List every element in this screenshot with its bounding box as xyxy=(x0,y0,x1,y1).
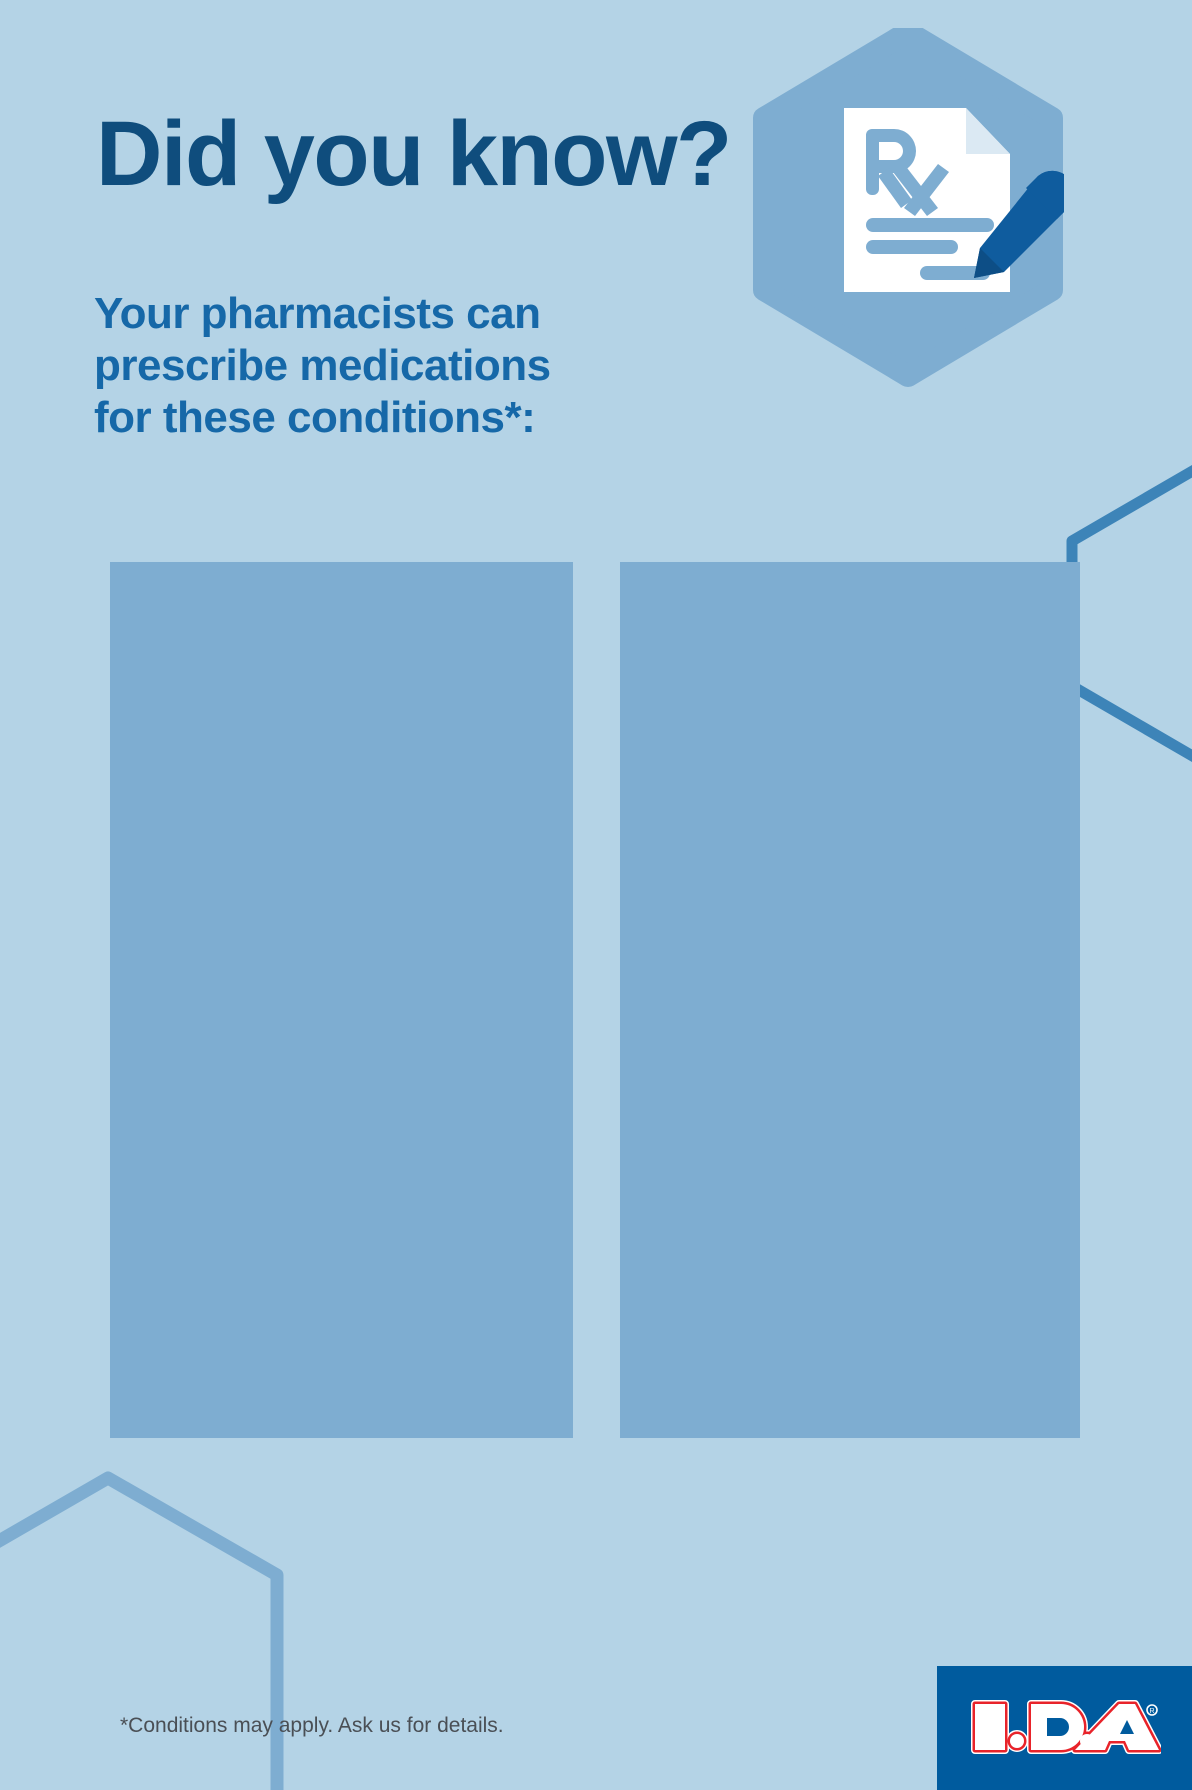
svg-text:R: R xyxy=(1149,1708,1154,1715)
left-content-panel xyxy=(110,562,573,1438)
poster-canvas: Did you know? Your pharmacists can presc… xyxy=(0,0,1192,1790)
page-title: Did you know? xyxy=(96,108,731,200)
subtitle-line-3: for these conditions*: xyxy=(94,392,551,444)
ida-logo-icon: R xyxy=(969,1696,1161,1758)
page-subtitle: Your pharmacists can prescribe medicatio… xyxy=(94,288,551,444)
right-content-panel-text xyxy=(620,562,1080,1438)
hexagon-outline-icon xyxy=(0,1478,277,1790)
right-content-panel xyxy=(620,562,1080,1438)
footnote-disclaimer: *Conditions may apply. Ask us for detail… xyxy=(120,1714,504,1738)
document-line xyxy=(866,240,958,254)
subtitle-line-2: prescribe medications xyxy=(94,340,551,392)
subtitle-line-1: Your pharmacists can xyxy=(94,288,551,340)
hexagon-outline-icon xyxy=(1072,469,1192,758)
left-content-panel-text xyxy=(110,562,573,1438)
document-line xyxy=(866,218,994,232)
rx-prescription-badge xyxy=(752,28,1064,420)
ida-logo-block: R xyxy=(937,1666,1192,1790)
